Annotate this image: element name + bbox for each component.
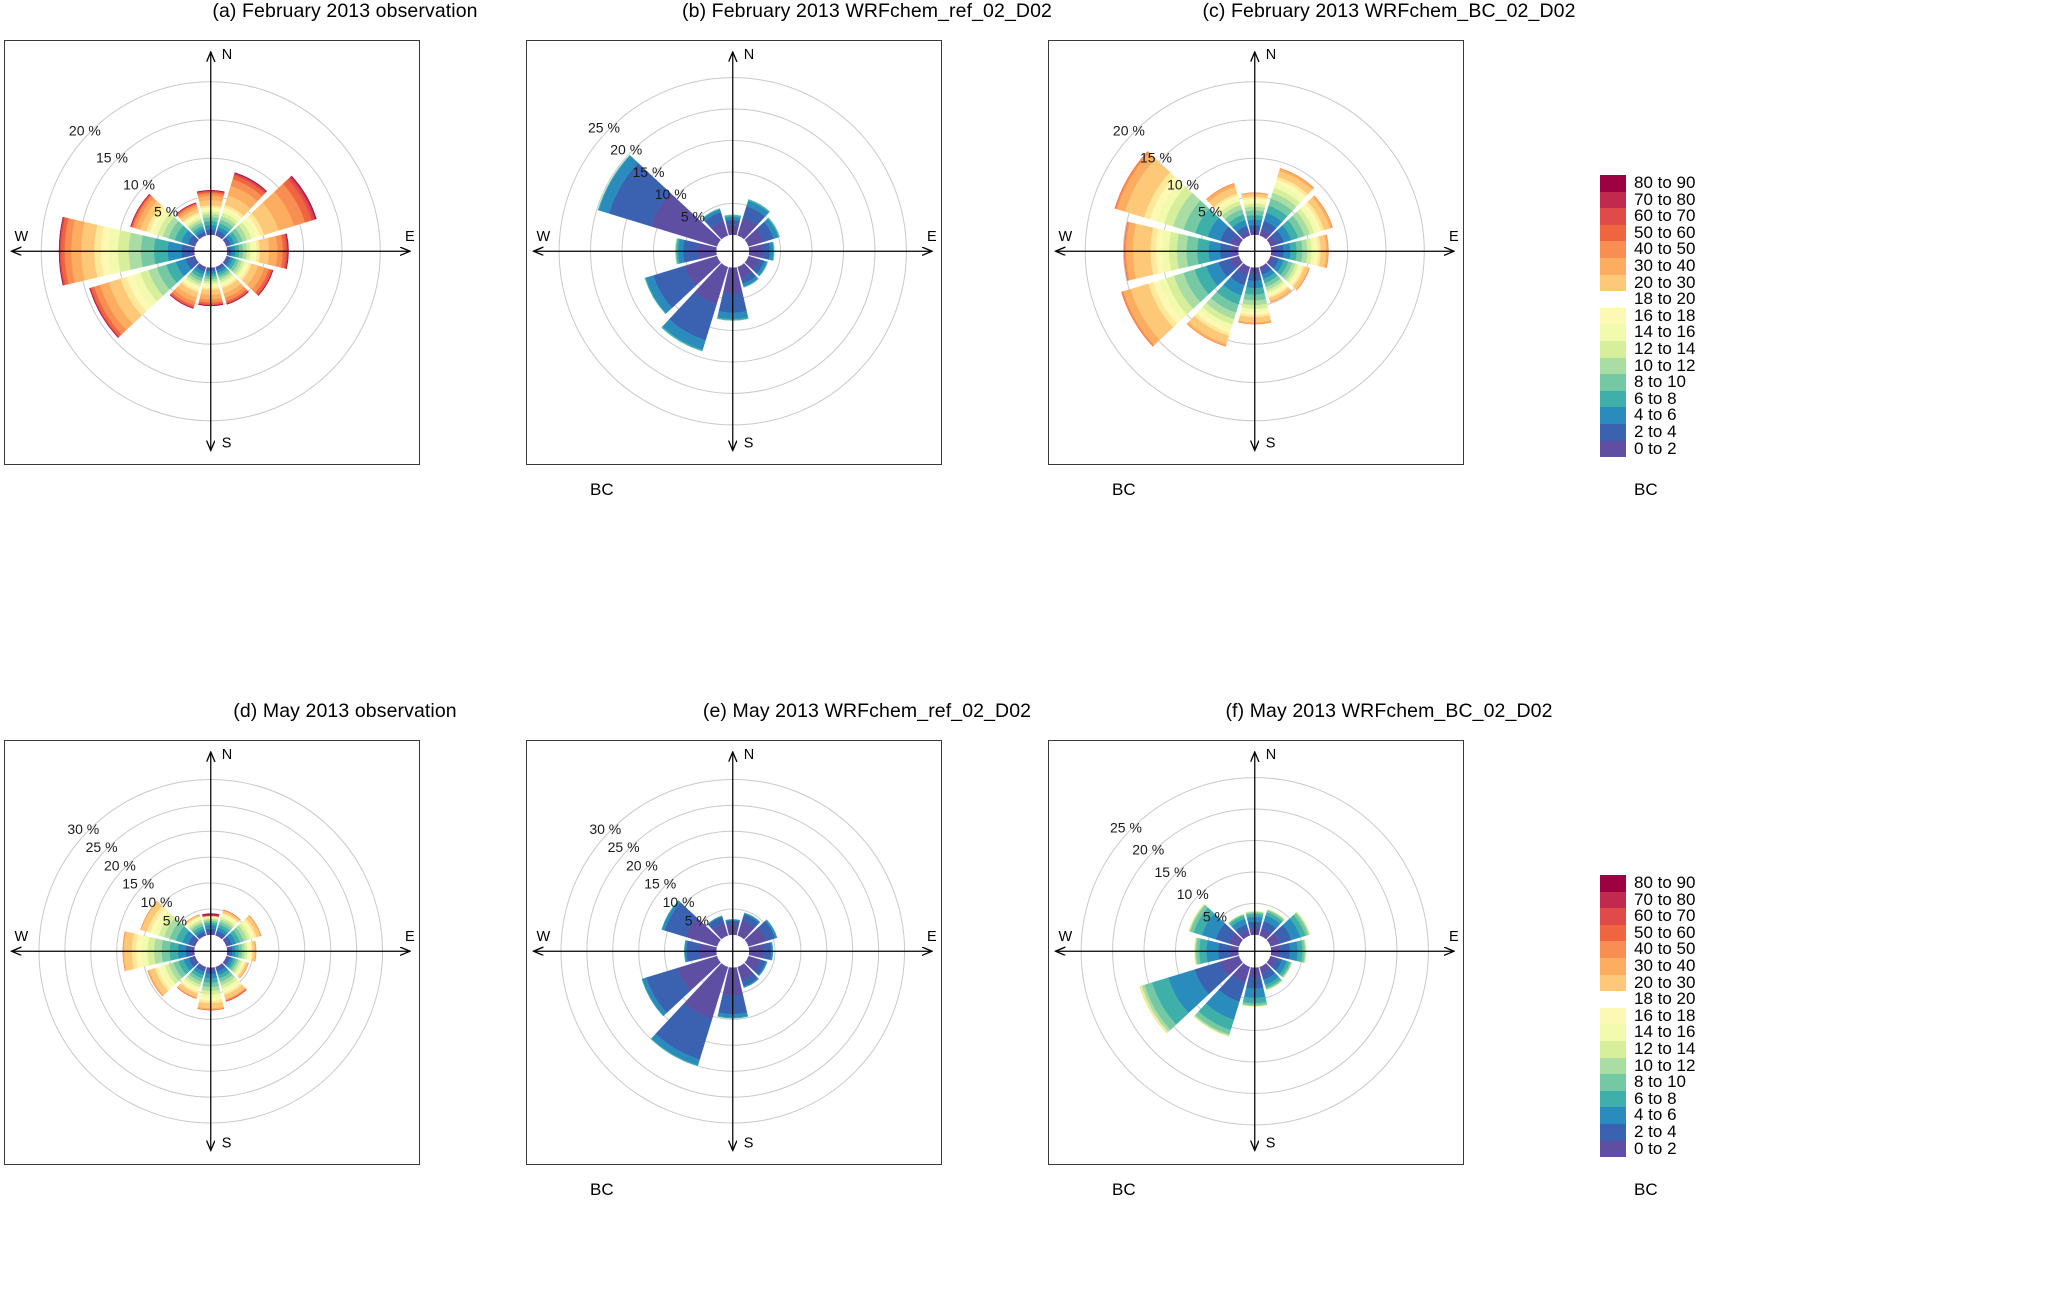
direction-label-s: S bbox=[222, 1136, 232, 1152]
direction-label-s: S bbox=[1266, 1136, 1276, 1152]
ring-percent-label: 15 % bbox=[1140, 149, 1172, 165]
direction-label-s: S bbox=[744, 1136, 754, 1152]
ring-percent-label: 20 % bbox=[626, 857, 658, 873]
panel-d-rose: NESW5 %10 %15 %20 %25 %30 % bbox=[5, 741, 419, 1164]
legend-swatch bbox=[1600, 875, 1626, 892]
polar-rose-plot: NESW5 %10 %15 %20 % bbox=[5, 41, 419, 464]
ring-percent-label: 20 % bbox=[1113, 122, 1145, 138]
polar-rose-plot: NESW5 %10 %15 %20 %25 % bbox=[1049, 741, 1463, 1164]
panel-b-rose: NESW5 %10 %15 %20 %25 % bbox=[527, 41, 941, 464]
ring-percent-label: 10 % bbox=[663, 894, 695, 910]
panel-a-rose: NESW5 %10 %15 %20 % bbox=[5, 41, 419, 464]
direction-label-e: E bbox=[927, 229, 937, 245]
legend-swatch bbox=[1600, 225, 1626, 242]
direction-label-w: W bbox=[14, 229, 28, 245]
legend-swatch bbox=[1600, 892, 1626, 909]
legend-unit-label: BC bbox=[1634, 480, 1695, 500]
ring-percent-label: 25 % bbox=[1110, 819, 1142, 835]
legend-label: 0 to 2 bbox=[1634, 441, 1677, 458]
direction-label-w: W bbox=[536, 929, 550, 945]
panel-c: (c) February 2013 WRFchem_BC_02_D02 NESW… bbox=[1044, 0, 1734, 490]
legend-swatch bbox=[1600, 258, 1626, 275]
direction-label-e: E bbox=[405, 929, 415, 945]
ring-percent-label: 15 % bbox=[96, 149, 128, 165]
panel-b-plotbox: NESW5 %10 %15 %20 %25 % bbox=[526, 40, 942, 465]
panel-f-legend: 80 to 9070 to 8060 to 7050 to 6040 to 50… bbox=[1600, 875, 1695, 1200]
legend-swatch bbox=[1600, 1074, 1626, 1091]
direction-label-s: S bbox=[744, 436, 754, 452]
legend-swatch bbox=[1600, 1008, 1626, 1025]
polar-rose-plot: NESW5 %10 %15 %20 % bbox=[1049, 41, 1463, 464]
ring-percent-label: 10 % bbox=[141, 894, 173, 910]
panel-f-rose: NESW5 %10 %15 %20 %25 % bbox=[1049, 741, 1463, 1164]
ring-percent-label: 5 % bbox=[685, 912, 709, 928]
legend-swatch bbox=[1600, 991, 1626, 1008]
legend-swatch bbox=[1600, 324, 1626, 341]
legend-unit-label: BC bbox=[1634, 1180, 1695, 1200]
legend-swatch bbox=[1600, 1107, 1626, 1124]
legend-swatch bbox=[1600, 1141, 1626, 1158]
ring-percent-label: 25 % bbox=[86, 839, 118, 855]
legend-swatch bbox=[1600, 308, 1626, 325]
panel-f: (f) May 2013 WRFchem_BC_02_D02 NESW5 %10… bbox=[1044, 700, 1734, 1190]
ring-percent-label: 20 % bbox=[610, 142, 642, 158]
legend-swatch bbox=[1600, 1058, 1626, 1075]
direction-label-e: E bbox=[405, 229, 415, 245]
ring-percent-label: 10 % bbox=[123, 177, 155, 193]
legend-swatch bbox=[1600, 958, 1626, 975]
direction-label-s: S bbox=[222, 436, 232, 452]
ring-percent-label: 15 % bbox=[644, 876, 676, 892]
legend-swatch bbox=[1600, 1024, 1626, 1041]
ring-percent-label: 10 % bbox=[1167, 177, 1199, 193]
ring-percent-label: 15 % bbox=[122, 876, 154, 892]
direction-label-w: W bbox=[1058, 229, 1072, 245]
ring-percent-label: 15 % bbox=[633, 164, 665, 180]
legend-label: 2 to 4 bbox=[1634, 1124, 1677, 1141]
legend-swatch bbox=[1600, 925, 1626, 942]
legend-swatch bbox=[1600, 424, 1626, 441]
direction-label-s: S bbox=[1266, 436, 1276, 452]
panel-a-plotbox: NESW5 %10 %15 %20 % bbox=[4, 40, 420, 465]
legend-label: 2 to 4 bbox=[1634, 424, 1677, 441]
panel-f-plotbox: NESW5 %10 %15 %20 %25 % bbox=[1048, 740, 1464, 1165]
ring-percent-label: 20 % bbox=[104, 857, 136, 873]
legend-swatch bbox=[1600, 275, 1626, 292]
direction-label-n: N bbox=[1266, 747, 1276, 763]
ring-percent-label: 5 % bbox=[154, 204, 178, 220]
panel-f-title: (f) May 2013 WRFchem_BC_02_D02 bbox=[1044, 700, 1734, 723]
legend-swatch bbox=[1600, 391, 1626, 408]
panel-e-plotbox: NESW5 %10 %15 %20 %25 %30 % bbox=[526, 740, 942, 1165]
ring-percent-label: 20 % bbox=[69, 122, 101, 138]
legend-row: 2 to 4 bbox=[1600, 1124, 1695, 1141]
panel-d-plotbox: NESW5 %10 %15 %20 %25 %30 % bbox=[4, 740, 420, 1165]
ring-percent-label: 20 % bbox=[1132, 842, 1164, 858]
polar-rose-plot: NESW5 %10 %15 %20 %25 %30 % bbox=[5, 741, 419, 1164]
pollution-rose-figure: (a) February 2013 observation NESW5 %10 … bbox=[0, 0, 2066, 1313]
direction-label-n: N bbox=[744, 47, 754, 63]
legend-swatch bbox=[1600, 1041, 1626, 1058]
legend-swatch bbox=[1600, 441, 1626, 458]
ring-percent-label: 30 % bbox=[589, 821, 621, 837]
ring-percent-label: 25 % bbox=[608, 839, 640, 855]
legend-swatch bbox=[1600, 291, 1626, 308]
legend-swatch bbox=[1600, 1091, 1626, 1108]
legend-swatch bbox=[1600, 1124, 1626, 1141]
ring-percent-label: 30 % bbox=[67, 821, 99, 837]
ring-percent-label: 5 % bbox=[163, 912, 187, 928]
direction-label-n: N bbox=[744, 747, 754, 763]
direction-label-e: E bbox=[1449, 929, 1459, 945]
legend-swatch bbox=[1600, 975, 1626, 992]
ring-percent-label: 10 % bbox=[655, 186, 687, 202]
panel-c-title: (c) February 2013 WRFchem_BC_02_D02 bbox=[1044, 0, 1734, 23]
polar-rose-plot: NESW5 %10 %15 %20 %25 %30 % bbox=[527, 741, 941, 1164]
direction-label-w: W bbox=[536, 229, 550, 245]
ring-percent-label: 15 % bbox=[1155, 864, 1187, 880]
panel-c-plotbox: NESW5 %10 %15 %20 % bbox=[1048, 40, 1464, 465]
polar-rose-plot: NESW5 %10 %15 %20 %25 % bbox=[527, 41, 941, 464]
legend-swatch bbox=[1600, 908, 1626, 925]
legend-row: 0 to 2 bbox=[1600, 441, 1695, 458]
direction-label-n: N bbox=[222, 747, 232, 763]
legend-row: 0 to 2 bbox=[1600, 1141, 1695, 1158]
legend-row: 2 to 4 bbox=[1600, 424, 1695, 441]
direction-label-w: W bbox=[14, 929, 28, 945]
direction-label-n: N bbox=[222, 47, 232, 63]
legend-label: 0 to 2 bbox=[1634, 1141, 1677, 1158]
legend-swatch bbox=[1600, 192, 1626, 209]
direction-label-n: N bbox=[1266, 47, 1276, 63]
legend-swatch bbox=[1600, 208, 1626, 225]
panel-c-legend: 80 to 9070 to 8060 to 7050 to 6040 to 50… bbox=[1600, 175, 1695, 500]
legend-swatch bbox=[1600, 358, 1626, 375]
legend-swatch bbox=[1600, 407, 1626, 424]
legend-swatch bbox=[1600, 941, 1626, 958]
legend-swatch bbox=[1600, 341, 1626, 358]
legend-swatch bbox=[1600, 175, 1626, 192]
ring-percent-label: 5 % bbox=[1203, 908, 1227, 924]
ring-percent-label: 10 % bbox=[1177, 886, 1209, 902]
ring-percent-label: 5 % bbox=[1198, 204, 1222, 220]
ring-percent-label: 25 % bbox=[588, 119, 620, 135]
ring-percent-label: 5 % bbox=[681, 208, 705, 224]
legend-swatch bbox=[1600, 374, 1626, 391]
direction-label-e: E bbox=[1449, 229, 1459, 245]
panel-c-rose: NESW5 %10 %15 %20 % bbox=[1049, 41, 1463, 464]
legend-swatch bbox=[1600, 241, 1626, 258]
panel-e-rose: NESW5 %10 %15 %20 %25 %30 % bbox=[527, 741, 941, 1164]
direction-label-e: E bbox=[927, 929, 937, 945]
direction-label-w: W bbox=[1058, 929, 1072, 945]
